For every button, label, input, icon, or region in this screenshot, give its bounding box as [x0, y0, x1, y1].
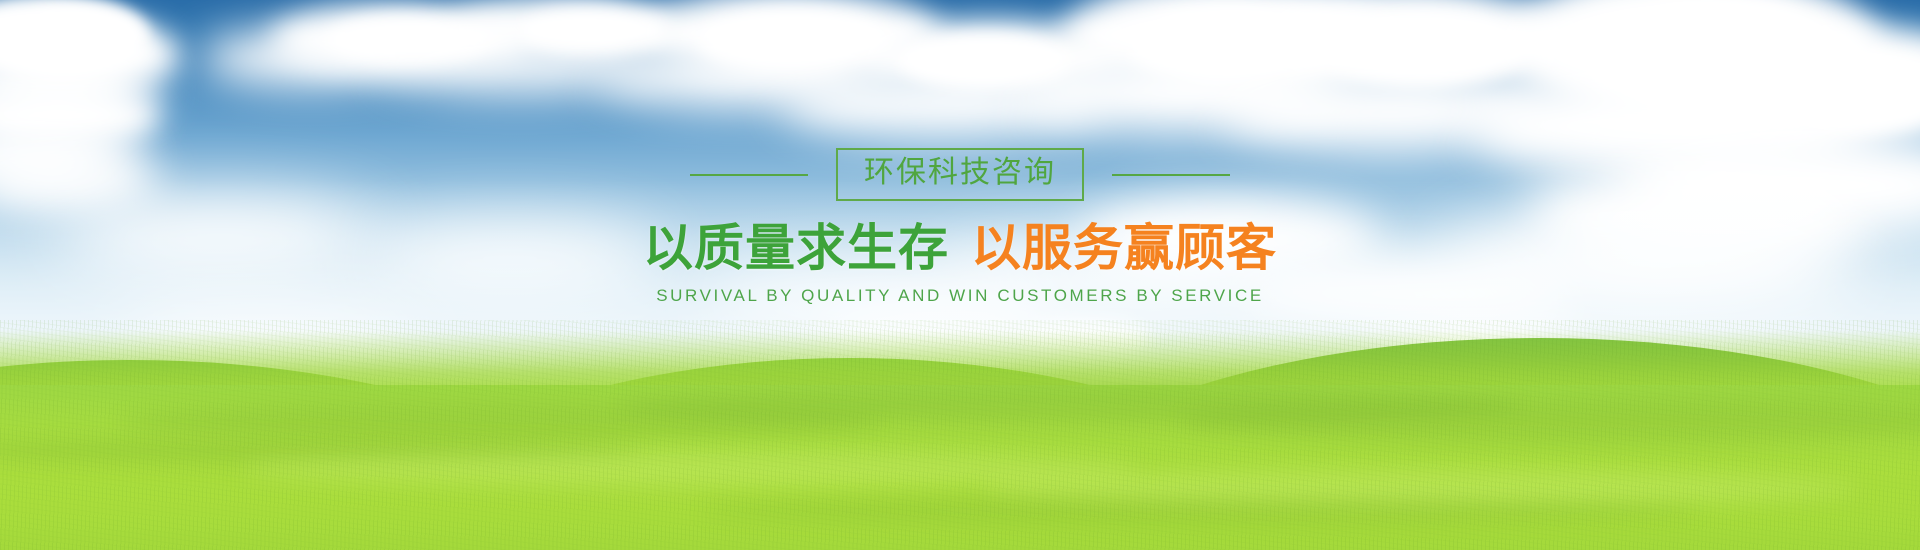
- rule-left-icon: [690, 174, 808, 176]
- slogan-part-green: 以质量求生存: [643, 219, 949, 277]
- grass-texture: [0, 320, 1920, 550]
- slogan-subtitle: SURVIVAL BY QUALITY AND WIN CUSTOMERS BY…: [0, 285, 1920, 307]
- slogan: 以质量求生存以服务赢顾客: [0, 218, 1920, 278]
- eyebrow-box: 环保科技咨询: [836, 148, 1084, 201]
- eyebrow-label: 环保科技咨询: [864, 155, 1056, 190]
- slogan-part-orange: 以服务赢顾客: [971, 219, 1277, 277]
- hero-banner: 环保科技咨询 以质量求生存以服务赢顾客 SURVIVAL BY QUALITY …: [0, 0, 1920, 550]
- rule-right-icon: [1112, 174, 1230, 176]
- eyebrow-row: 环保科技咨询: [0, 148, 1920, 201]
